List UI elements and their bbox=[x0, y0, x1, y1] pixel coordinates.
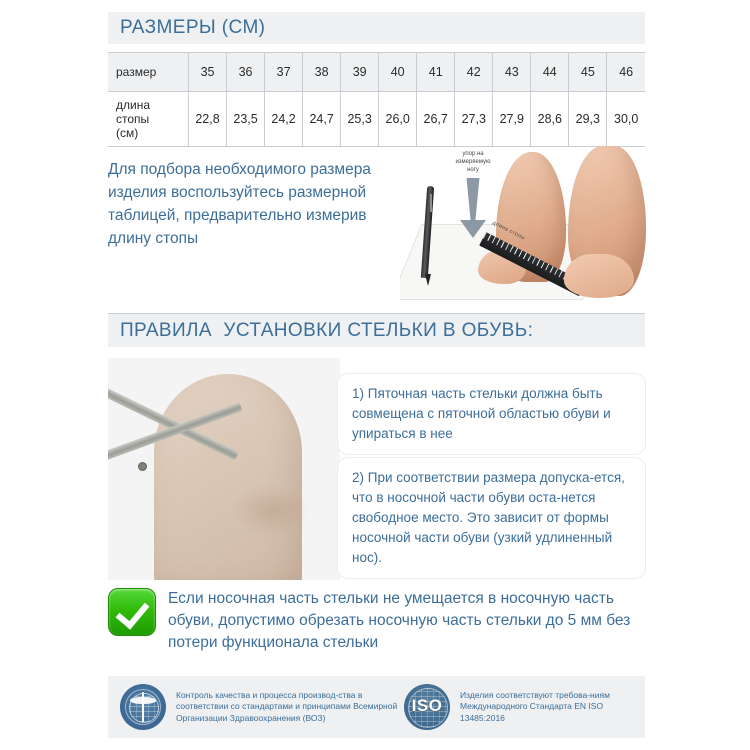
iso-certification: ISO Изделия соответствуют требова-ниям М… bbox=[398, 684, 645, 730]
product-info-page: РАЗМЕРЫ (СМ) размер 35 36 37 38 39 40 41… bbox=[0, 0, 750, 750]
length-cell: 30,0 bbox=[607, 92, 645, 147]
length-cell: 22,8 bbox=[189, 92, 227, 147]
size-cell: 46 bbox=[607, 53, 645, 92]
trim-tip-row: Если носочная часть стельки не умещается… bbox=[108, 588, 645, 650]
instruction-card-1: 1) Пяточная часть стельки должна быть со… bbox=[338, 374, 645, 454]
size-cell: 42 bbox=[455, 53, 493, 92]
who-certification-text: Контроль качества и процесса производ-ст… bbox=[176, 690, 398, 725]
size-table: размер 35 36 37 38 39 40 41 42 43 44 45 … bbox=[108, 52, 645, 147]
down-arrow-icon bbox=[464, 178, 482, 223]
length-cell: 27,9 bbox=[493, 92, 531, 147]
insole-heel-shade bbox=[232, 484, 310, 536]
length-cell: 24,2 bbox=[265, 92, 303, 147]
size-cell: 38 bbox=[303, 53, 341, 92]
pen-tip-shape bbox=[425, 274, 431, 286]
length-cell: 29,3 bbox=[569, 92, 607, 147]
length-cell: 23,5 bbox=[227, 92, 265, 147]
pen-clip-shape bbox=[430, 194, 432, 212]
right-foot-toes-shape bbox=[564, 254, 634, 298]
length-cell: 25,3 bbox=[341, 92, 379, 147]
row-header-length: длинастопы(см) bbox=[108, 92, 189, 147]
scissors-pivot-screw bbox=[138, 462, 147, 471]
instruction-card-2: 2) При соответствии размера допуска-ется… bbox=[338, 458, 645, 578]
size-cell: 37 bbox=[265, 53, 303, 92]
size-selection-instructions: Для подбора необходимого размера изделия… bbox=[108, 158, 408, 250]
iso-certification-text: Изделия соответствуют требова-ниям Между… bbox=[460, 690, 645, 725]
trim-tip-text: Если носочная часть стельки не умещается… bbox=[168, 588, 645, 654]
row-header-size: размер bbox=[108, 53, 189, 92]
length-cell: 27,3 bbox=[455, 92, 493, 147]
arrow-label-text: упор наизмеряемуюногу bbox=[436, 150, 510, 174]
size-cell: 36 bbox=[227, 53, 265, 92]
size-cell: 41 bbox=[417, 53, 455, 92]
length-cell: 24,7 bbox=[303, 92, 341, 147]
size-cell: 39 bbox=[341, 53, 379, 92]
table-row-length: длинастопы(см) 22,8 23,5 24,2 24,7 25,3 … bbox=[108, 92, 645, 147]
length-cell: 26,7 bbox=[417, 92, 455, 147]
green-check-icon bbox=[108, 588, 156, 636]
size-cell: 44 bbox=[531, 53, 569, 92]
size-cell: 35 bbox=[189, 53, 227, 92]
size-cell: 45 bbox=[569, 53, 607, 92]
insole-shape bbox=[154, 374, 302, 580]
sizes-section-header: РАЗМЕРЫ (СМ) bbox=[108, 12, 645, 44]
insole-cutting-illustration bbox=[108, 358, 340, 580]
who-rod-of-asclepius-shape bbox=[142, 692, 144, 722]
length-cell: 28,6 bbox=[531, 92, 569, 147]
iso-wordmark: ISO bbox=[404, 696, 450, 716]
iso-emblem-icon: ISO bbox=[404, 684, 450, 730]
size-cell: 40 bbox=[379, 53, 417, 92]
length-cell: 26,0 bbox=[379, 92, 417, 147]
sizes-section-title: РАЗМЕРЫ (СМ) bbox=[108, 17, 265, 39]
who-certification: Контроль качества и процесса производ-ст… bbox=[108, 684, 398, 730]
rules-section-title: ПРАВИЛА УСТАНОВКИ СТЕЛЬКИ В ОБУВЬ: bbox=[108, 320, 533, 342]
rules-section-header: ПРАВИЛА УСТАНОВКИ СТЕЛЬКИ В ОБУВЬ: bbox=[108, 313, 645, 347]
foot-measuring-illustration: упор наизмеряемуюногу длина стопы bbox=[400, 146, 648, 304]
certification-footer: Контроль качества и процесса производ-ст… bbox=[108, 676, 645, 738]
size-cell: 43 bbox=[493, 53, 531, 92]
table-row-sizes: размер 35 36 37 38 39 40 41 42 43 44 45 … bbox=[108, 53, 645, 92]
who-emblem-icon bbox=[120, 684, 166, 730]
